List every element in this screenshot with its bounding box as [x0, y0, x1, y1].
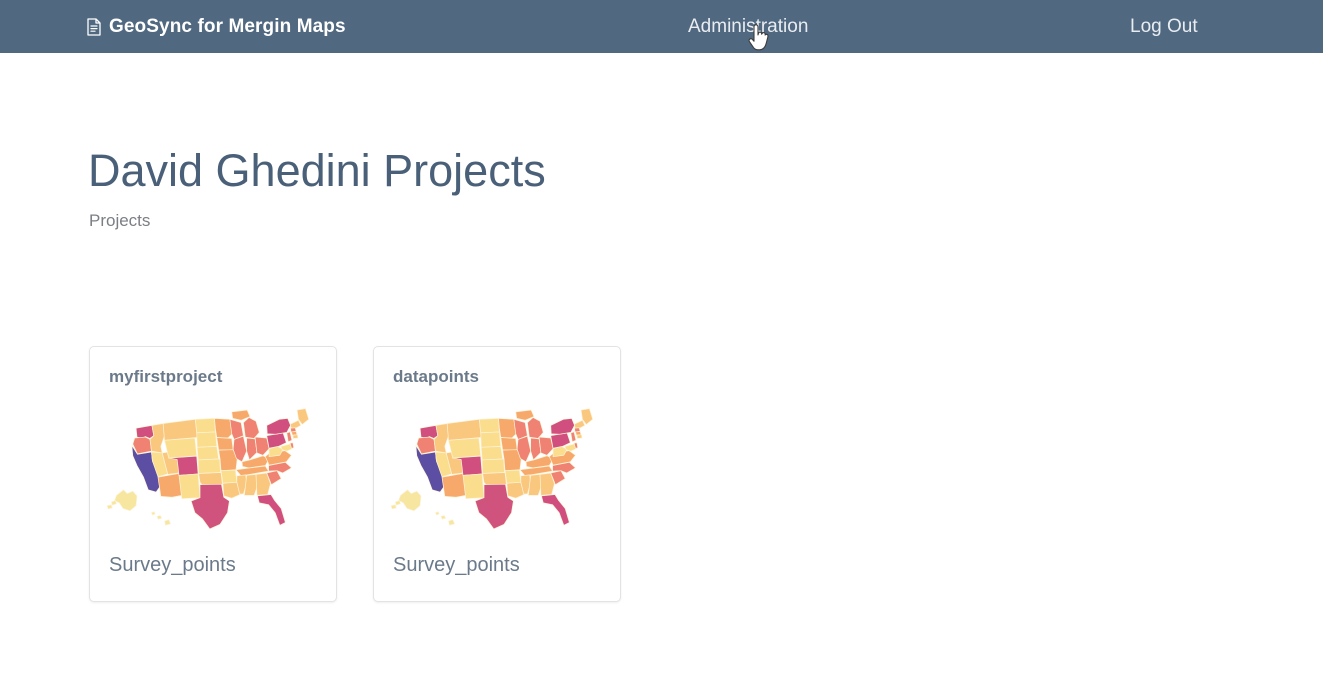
project-card-title: datapoints — [393, 367, 479, 387]
project-card[interactable]: datapoints — [373, 346, 621, 602]
breadcrumb: Projects — [89, 211, 150, 231]
project-card-layer-name: Survey_points — [109, 554, 236, 577]
project-card[interactable]: myfirstproject — [89, 346, 337, 602]
project-card-list: myfirstproject — [89, 346, 621, 602]
file-text-icon — [86, 18, 101, 37]
project-card-title: myfirstproject — [109, 367, 222, 387]
us-choropleth-map-icon — [386, 403, 610, 543]
page-body: David Ghedini Projects Projects myfirstp… — [0, 53, 1323, 695]
us-choropleth-map-icon — [102, 403, 326, 543]
nav-administration[interactable]: Administration — [688, 16, 808, 38]
project-card-layer-name: Survey_points — [393, 554, 520, 577]
navbar-brand-label: GeoSync for Mergin Maps — [109, 16, 346, 38]
page-title: David Ghedini Projects — [88, 148, 546, 193]
navbar-brand[interactable]: GeoSync for Mergin Maps — [86, 16, 346, 38]
top-navbar: GeoSync for Mergin Maps Administration L… — [0, 0, 1323, 53]
nav-logout[interactable]: Log Out — [1130, 16, 1198, 38]
